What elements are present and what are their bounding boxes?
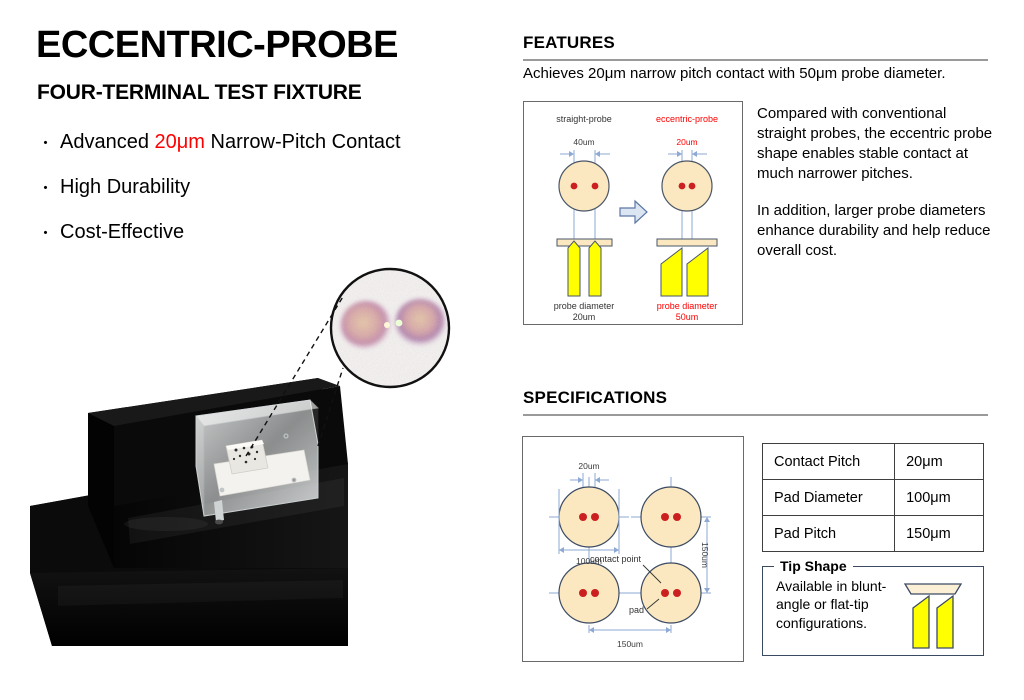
bullet-dot-icon: ・ — [38, 226, 53, 241]
features-section-header: FEATURES — [523, 33, 988, 61]
bullet-text: Cost-Effective — [60, 222, 184, 242]
features-paragraph-2: In addition, larger probe diameters enha… — [757, 201, 995, 261]
features-lead-text: Achieves 20μm narrow pitch contact with … — [523, 64, 993, 84]
label-contact-point: contact point — [590, 554, 642, 564]
page-subtitle: FOUR-TERMINAL TEST FIXTURE — [37, 82, 362, 103]
table-row: Pad Pitch 150μm — [763, 516, 984, 552]
table-row: Contact Pitch 20μm — [763, 444, 984, 480]
pad-layout-diagram: 20um 100um 150um 150um — [522, 436, 744, 662]
list-item: ・ Advanced 20μm Narrow-Pitch Contact — [38, 132, 468, 152]
tip-shape-panel: Tip Shape Available in blunt-angle or fl… — [762, 558, 984, 656]
specifications-table: Contact Pitch 20μm Pad Diameter 100μm Pa… — [762, 443, 984, 552]
dim-pitch-horizontal: 150um — [617, 639, 643, 649]
page-title: ECCENTRIC-PROBE — [36, 26, 398, 64]
features-heading: FEATURES — [523, 33, 988, 53]
heading-rule — [523, 414, 988, 416]
probe-comparison-diagram: straight-probe 40um probe diame — [523, 101, 743, 325]
spec-key: Pad Pitch — [763, 516, 895, 552]
bullet-highlight: 20μm — [155, 131, 205, 153]
diagram-pitch-left: 40um — [573, 137, 594, 147]
diagram-caption-left-1: probe diameter — [554, 301, 615, 311]
table-row: Pad Diameter 100μm — [763, 480, 984, 516]
spec-value: 150μm — [895, 516, 984, 552]
features-description: Compared with conventional straight prob… — [757, 104, 995, 261]
spec-value: 100μm — [895, 480, 984, 516]
magnifier-callout — [331, 269, 449, 387]
specifications-heading: SPECIFICATIONS — [523, 388, 988, 408]
bullet-text: High Durability — [60, 177, 190, 197]
heading-rule — [523, 59, 988, 61]
diagram-caption-left-2: 20um — [573, 312, 596, 322]
bullet-text: Advanced 20μm Narrow-Pitch Contact — [60, 132, 401, 152]
probe-tip-icon — [897, 572, 969, 659]
tip-shape-text: Available in blunt-angle or flat-tip con… — [776, 577, 894, 632]
dim-pitch-vertical: 150um — [700, 542, 710, 568]
label-pad: pad — [629, 605, 644, 615]
diagram-label-eccentric-probe: eccentric-probe — [656, 114, 718, 124]
list-item: ・ Cost-Effective — [38, 222, 468, 242]
bullet-dot-icon: ・ — [38, 181, 53, 196]
diagram-pitch-right: 20um — [676, 137, 697, 147]
diagram-caption-right-2: 50um — [676, 312, 699, 322]
tip-shape-legend: Tip Shape — [774, 558, 853, 574]
diagram-caption-right-1: probe diameter — [657, 301, 718, 311]
slide-page: ECCENTRIC-PROBE FOUR-TERMINAL TEST FIXTU… — [0, 0, 1024, 700]
spec-key: Contact Pitch — [763, 444, 895, 480]
list-item: ・ High Durability — [38, 177, 468, 197]
left-column: ECCENTRIC-PROBE FOUR-TERMINAL TEST FIXTU… — [0, 0, 500, 700]
bullet-dot-icon: ・ — [38, 136, 53, 151]
spec-value: 20μm — [895, 444, 984, 480]
right-column: FEATURES Achieves 20μm narrow pitch cont… — [523, 0, 993, 700]
spec-key: Pad Diameter — [763, 480, 895, 516]
specifications-section-header: SPECIFICATIONS — [523, 388, 988, 416]
dim-pitch-small: 20um — [578, 461, 599, 471]
diagram-label-straight-probe: straight-probe — [556, 114, 612, 124]
feature-bullet-list: ・ Advanced 20μm Narrow-Pitch Contact ・ H… — [38, 132, 468, 267]
features-paragraph-1: Compared with conventional straight prob… — [757, 104, 995, 184]
product-photo — [18, 268, 488, 678]
